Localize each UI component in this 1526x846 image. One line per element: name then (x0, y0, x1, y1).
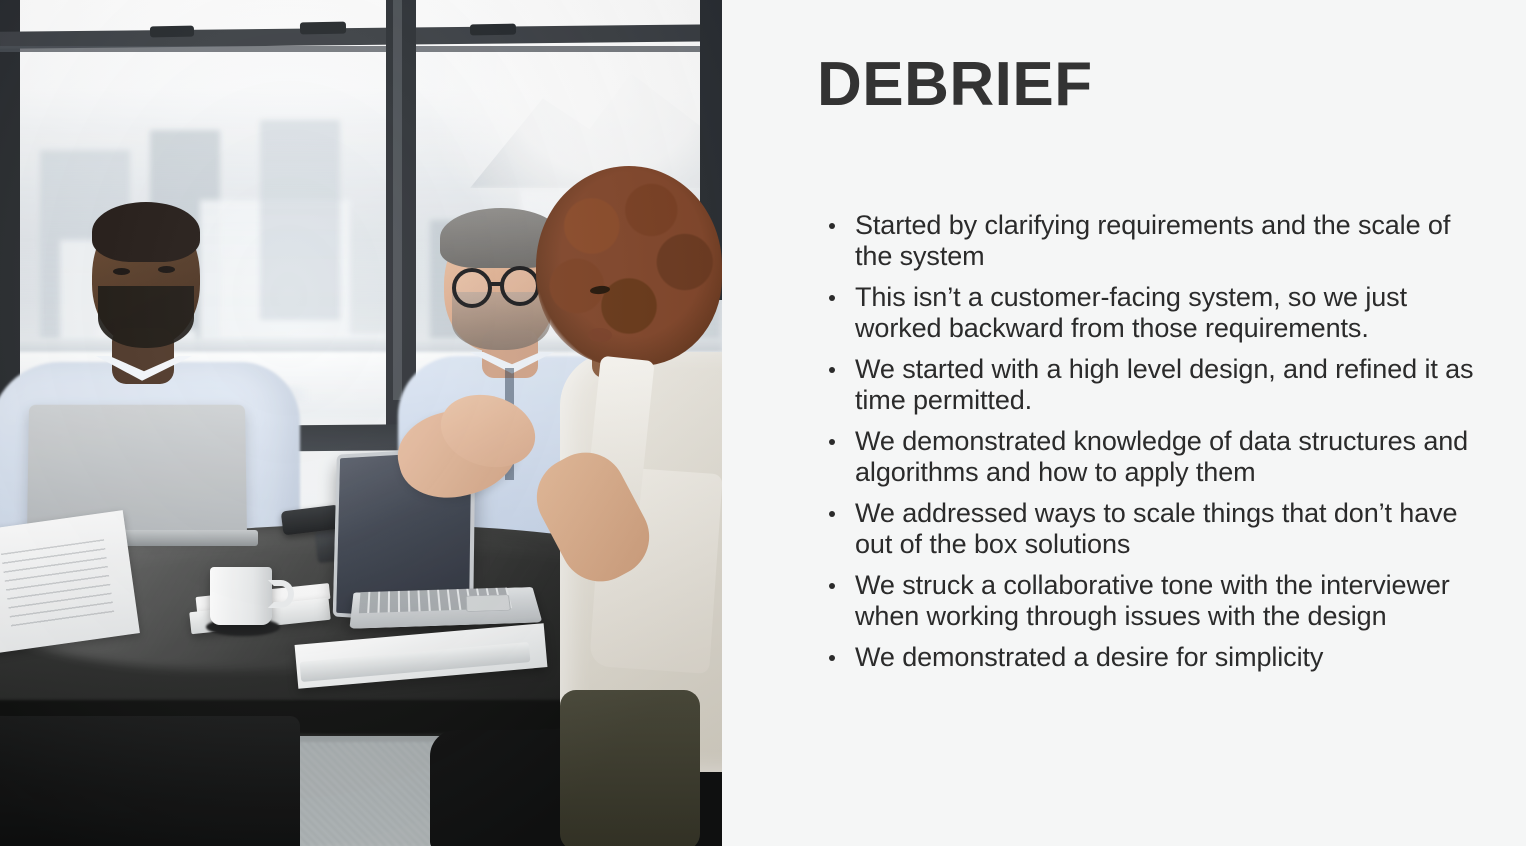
man-left-eye (113, 268, 130, 275)
eyeglasses-icon (452, 268, 492, 308)
silver-laptop-left (27, 405, 247, 537)
window-frame-horizontal-thin (0, 46, 722, 52)
chair-foreground (0, 716, 300, 846)
window-latch (150, 26, 194, 38)
slide-content-panel: DEBRIEF Started by clarifying requiremen… (722, 0, 1526, 846)
list-item: We started with a high level design, and… (818, 354, 1482, 416)
paper-text-lines (1, 539, 115, 633)
window-frame-left (0, 0, 20, 440)
list-item: We demonstrated knowledge of data struct… (818, 426, 1482, 488)
coffee-mug (210, 567, 272, 625)
woman-right-hair (536, 166, 722, 366)
presentation-slide: DEBRIEF Started by clarifying requiremen… (0, 0, 1526, 846)
man-left-eye (158, 266, 175, 273)
eyeglasses-icon (500, 266, 540, 306)
man-left-beard (98, 286, 194, 348)
list-item: We addressed ways to scale things that d… (818, 498, 1482, 560)
window-latch (470, 24, 516, 36)
list-item: This isn’t a customer-facing system, so … (818, 282, 1482, 344)
woman-right-trousers (560, 690, 700, 846)
list-item: We struck a collaborative tone with the … (818, 570, 1482, 632)
eyeglasses-bridge (490, 282, 504, 286)
window-frame-vertical-highlight (393, 0, 402, 400)
bullet-list: Started by clarifying requirements and t… (818, 210, 1482, 683)
coffee-mug-handle (268, 580, 294, 608)
window-latch (300, 22, 346, 35)
man-left-hair (92, 202, 200, 262)
laptop-trackpad (466, 594, 511, 611)
meeting-photo (0, 0, 722, 846)
page-title: DEBRIEF (817, 52, 1093, 117)
woman-right-mouth (588, 328, 612, 342)
list-item: Started by clarifying requirements and t… (818, 210, 1482, 272)
list-item: We demonstrated a desire for simplicity (818, 642, 1482, 673)
